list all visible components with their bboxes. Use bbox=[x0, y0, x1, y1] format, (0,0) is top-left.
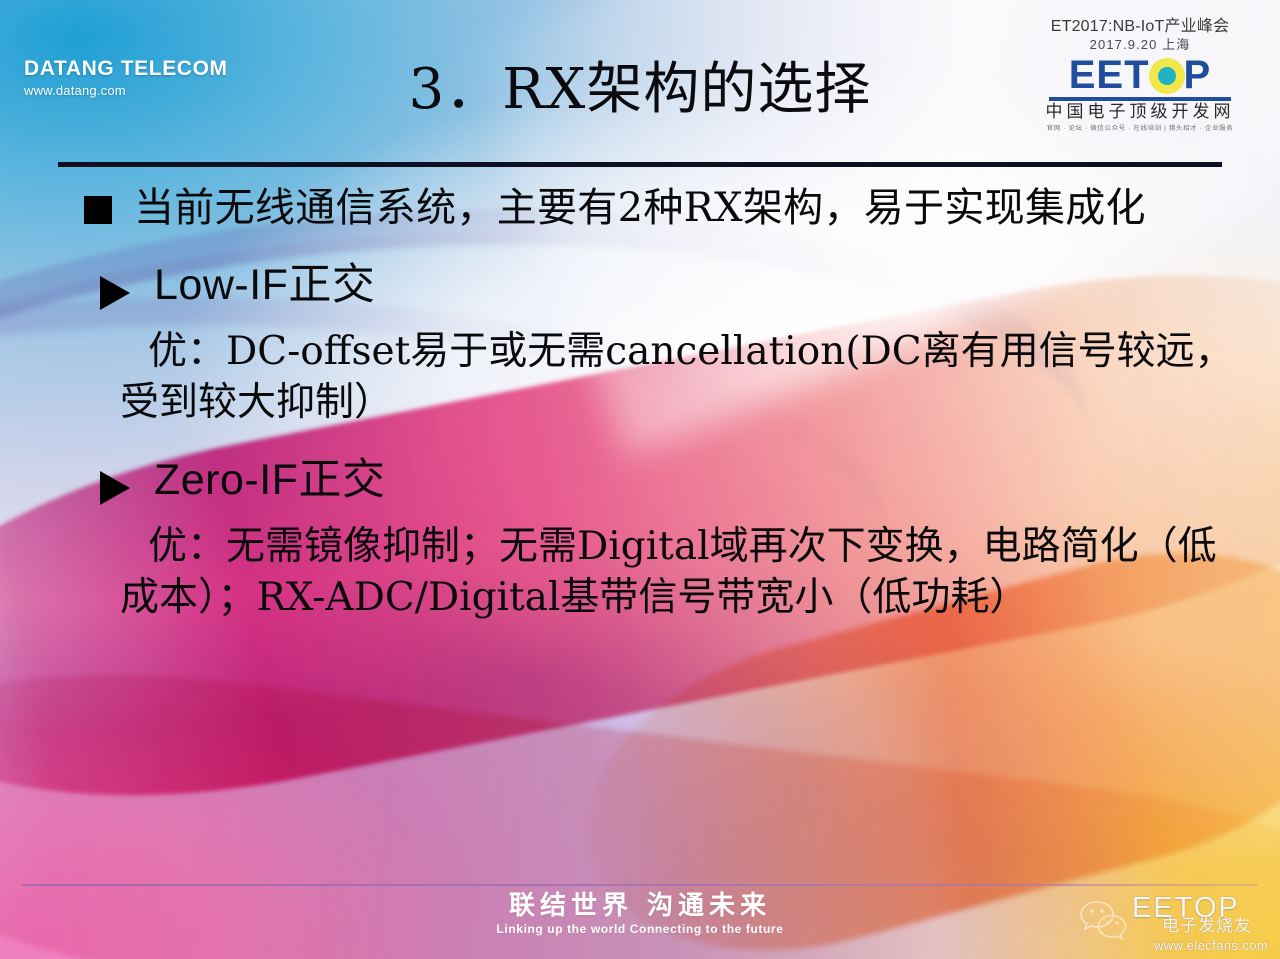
event-date: 2017.9.20 上海 bbox=[1026, 38, 1254, 52]
bullet-level1: 当前无线通信系统，主要有2种RX架构，易于实现集成化 bbox=[0, 182, 1280, 234]
presentation-slide: DATANG TELECOM www.datang.com ET2017:NB-… bbox=[0, 0, 1280, 959]
watermark-url: www.elecfans.com bbox=[1154, 939, 1268, 952]
footer-divider-rule bbox=[22, 884, 1258, 886]
section-heading-text: Zero-IF正交 bbox=[154, 457, 385, 504]
section-detail-zero-if: 优：无需镜像抑制；无需Digital域再次下变换，电路简化（低成本）；RX-AD… bbox=[0, 522, 1280, 623]
watermark-chinese: 电子发烧友 bbox=[1162, 918, 1252, 935]
square-bullet-icon bbox=[84, 196, 112, 224]
title-divider-rule bbox=[58, 162, 1222, 167]
event-title: ET2017:NB-IoT产业峰会 bbox=[1026, 18, 1254, 36]
wechat-icon bbox=[1078, 898, 1130, 944]
section-detail-low-if: 优：DC-offset易于或无需cancellation(DC离有用信号较远，受… bbox=[0, 327, 1280, 428]
triangle-bullet-icon bbox=[100, 471, 130, 505]
section-heading-text: Low-IF正交 bbox=[154, 262, 375, 309]
eetop-watermark: EETOP 电子发烧友 www.elecfans.com bbox=[1076, 892, 1272, 956]
section-heading-low-if: Low-IF正交 bbox=[0, 262, 1280, 309]
eetop-tagline-micro: 官网 · 论坛 · 微信公众号 · 在线培训 | 猎头招才 · 企业服务 bbox=[1026, 125, 1254, 132]
triangle-bullet-icon bbox=[100, 276, 130, 310]
section-heading-zero-if: Zero-IF正交 bbox=[0, 457, 1280, 504]
slide-title: 3．RX架构的选择 bbox=[0, 62, 1280, 118]
bullet-level1-text: 当前无线通信系统，主要有2种RX架构，易于实现集成化 bbox=[84, 182, 1240, 234]
slide-body: 当前无线通信系统，主要有2种RX架构，易于实现集成化 Low-IF正交 优：DC… bbox=[0, 182, 1280, 623]
